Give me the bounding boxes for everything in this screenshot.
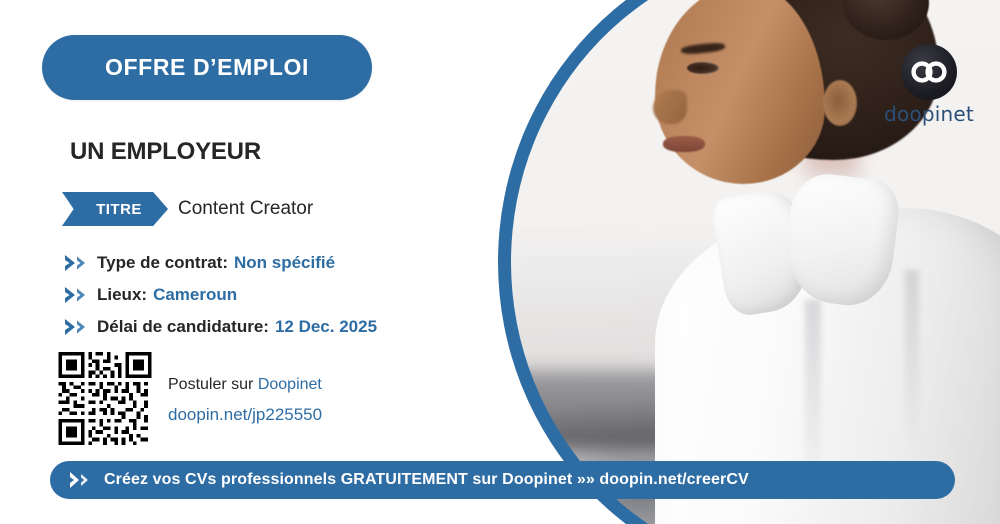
chevron-right-icon bbox=[68, 471, 92, 489]
double-chevron-icon bbox=[64, 254, 90, 272]
title-ribbon: TITRE bbox=[62, 192, 168, 226]
apply-url[interactable]: doopin.net/jp225550 bbox=[168, 405, 322, 425]
detail-label: Délai de candidature: bbox=[97, 317, 269, 337]
cv-promo-text: Créez vos CVs professionnels GRATUITEMEN… bbox=[104, 471, 749, 489]
qr-code-icon[interactable] bbox=[56, 352, 154, 445]
offer-badge: OFFRE D’EMPLOI bbox=[42, 35, 372, 100]
detail-value: Cameroun bbox=[153, 285, 237, 305]
apply-instruction: Postuler sur Doopinet bbox=[168, 376, 322, 394]
detail-value: 12 Dec. 2025 bbox=[275, 317, 377, 337]
title-ribbon-label: TITRE bbox=[88, 201, 142, 218]
job-offer-poster: doopinet OFFRE D’EMPLOI UN EMPLOYEUR TIT… bbox=[0, 0, 1000, 524]
apply-text: Postuler sur Doopinet doopin.net/jp22555… bbox=[168, 372, 322, 425]
ear bbox=[823, 80, 857, 126]
detail-row-contract-type: Type de contrat: Non spécifié bbox=[64, 248, 377, 277]
left-content: OFFRE D’EMPLOI UN EMPLOYEUR TITRE Conten… bbox=[0, 0, 520, 524]
apply-section: Postuler sur Doopinet doopin.net/jp22555… bbox=[56, 352, 322, 445]
apply-brand: Doopinet bbox=[258, 376, 322, 393]
job-title: Content Creator bbox=[178, 198, 313, 220]
detail-value: Non spécifié bbox=[234, 253, 335, 273]
double-chevron-icon bbox=[64, 318, 90, 336]
brand-name: doopinet bbox=[874, 102, 984, 126]
lips bbox=[663, 136, 705, 152]
double-chevron-icon bbox=[64, 286, 90, 304]
eye bbox=[687, 62, 719, 74]
detail-label: Lieux: bbox=[97, 285, 147, 305]
shirt-fold bbox=[905, 270, 919, 450]
apply-prefix: Postuler sur bbox=[168, 376, 258, 393]
job-details-list: Type de contrat: Non spécifié Lieux: Cam… bbox=[64, 248, 377, 344]
cv-promo-banner[interactable]: Créez vos CVs professionnels GRATUITEMEN… bbox=[50, 461, 955, 499]
detail-label: Type de contrat: bbox=[97, 253, 228, 273]
infinity-icon bbox=[901, 44, 957, 100]
brand-logo: doopinet bbox=[874, 44, 984, 126]
job-title-row: TITRE Content Creator bbox=[62, 192, 313, 226]
offer-badge-label: OFFRE D’EMPLOI bbox=[105, 54, 309, 81]
detail-row-deadline: Délai de candidature: 12 Dec. 2025 bbox=[64, 312, 377, 341]
nose bbox=[653, 90, 687, 124]
detail-row-location: Lieux: Cameroun bbox=[64, 280, 377, 309]
employer-name: UN EMPLOYEUR bbox=[70, 138, 261, 166]
